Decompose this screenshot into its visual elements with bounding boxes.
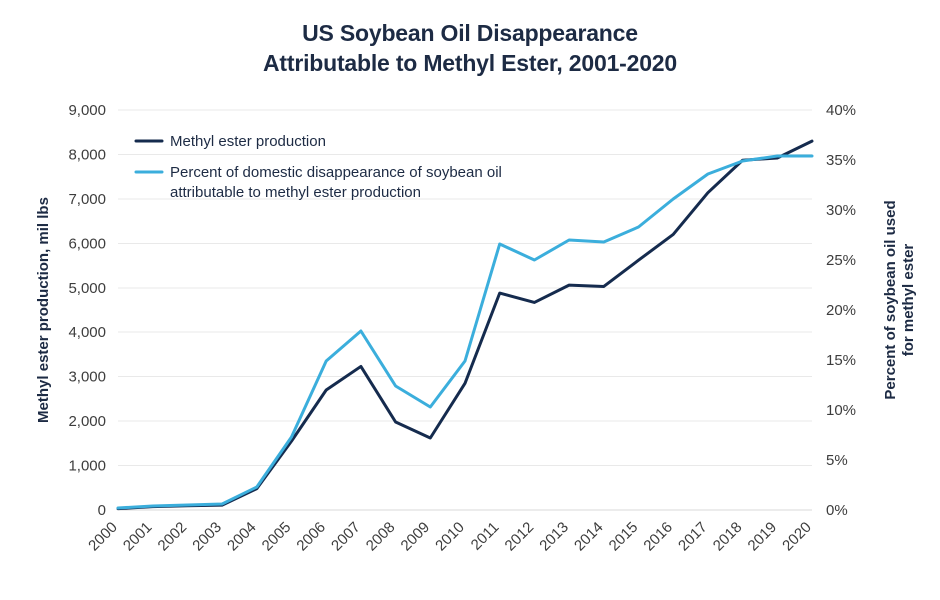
y-axis-right-title-line-1: Percent of soybean oil used — [882, 200, 899, 399]
x-axis-tick-label: 2017 — [675, 519, 711, 555]
y-axis-right-tick-label: 30% — [826, 202, 856, 219]
chart-title-line-2: Attributable to Methyl Ester, 2001-2020 — [0, 48, 940, 78]
legend-label-percent-disappearance-line-1: Percent of domestic disappearance of soy… — [170, 164, 502, 181]
x-axis-tick-label: 2018 — [710, 519, 746, 555]
y-axis-left-tick-label: 3,000 — [68, 369, 106, 386]
chart-title: US Soybean Oil Disappearance Attributabl… — [0, 18, 940, 78]
chart-title-line-1: US Soybean Oil Disappearance — [0, 18, 940, 48]
y-axis-right-tick-label: 5% — [826, 452, 848, 469]
chart-plot-area: 01,0002,0003,0004,0005,0006,0007,0008,00… — [0, 0, 940, 600]
x-axis-tick-label: 2016 — [640, 519, 676, 555]
x-axis-tick-label: 2004 — [224, 519, 260, 555]
y-axis-right-tick-label: 40% — [826, 102, 856, 119]
y-axis-left-tick-label: 1,000 — [68, 458, 106, 475]
y-axis-right-tick-label: 35% — [826, 152, 856, 169]
x-axis-tick-label: 2013 — [536, 519, 572, 555]
y-axis-right-tick-label: 25% — [826, 252, 856, 269]
chart-legend: Methyl ester production Percent of domes… — [136, 133, 502, 201]
y-axis-right-tick-label: 20% — [826, 302, 856, 319]
x-axis-tick-label: 2015 — [606, 519, 642, 555]
y-axis-left-tick-label: 4,000 — [68, 324, 106, 341]
x-axis-ticks: 2000200120022003200420052006200720082009… — [85, 519, 815, 555]
x-axis-tick-label: 2020 — [779, 519, 815, 555]
x-axis-tick-label: 2003 — [189, 519, 225, 555]
chart-container: US Soybean Oil Disappearance Attributabl… — [0, 0, 940, 600]
x-axis-tick-label: 2007 — [328, 519, 364, 555]
y-axis-right-title-line-2: for methyl ester — [900, 244, 917, 357]
x-axis-tick-label: 2008 — [363, 519, 399, 555]
x-axis-tick-label: 2011 — [468, 519, 503, 554]
y-axis-right-tick-label: 10% — [826, 402, 856, 419]
x-axis-tick-label: 2010 — [432, 519, 468, 555]
x-axis-tick-label: 2005 — [259, 519, 295, 555]
x-axis-tick-label: 2000 — [85, 519, 121, 555]
x-axis-tick-label: 2019 — [745, 519, 781, 555]
y-axis-left-ticks: 01,0002,0003,0004,0005,0006,0007,0008,00… — [68, 102, 106, 519]
y-axis-left-tick-label: 6,000 — [68, 235, 106, 252]
y-axis-right-tick-label: 0% — [826, 502, 848, 519]
legend-label-methyl-ester-production: Methyl ester production — [170, 133, 326, 150]
y-axis-left-tick-label: 0 — [98, 502, 106, 519]
y-axis-left-title: Methyl ester production, mil lbs — [35, 197, 52, 423]
legend-label-percent-disappearance-line-2: attributable to methyl ester production — [170, 184, 421, 201]
x-axis-tick-label: 2014 — [571, 519, 607, 555]
y-axis-right-tick-label: 15% — [826, 352, 856, 369]
y-axis-left-tick-label: 7,000 — [68, 191, 106, 208]
x-axis-tick-label: 2002 — [155, 519, 191, 555]
x-axis-tick-label: 2012 — [502, 519, 538, 555]
x-axis-tick-label: 2009 — [398, 519, 434, 555]
y-axis-left-tick-label: 5,000 — [68, 280, 106, 297]
x-axis-tick-label: 2001 — [120, 519, 156, 555]
y-axis-left-tick-label: 9,000 — [68, 102, 106, 119]
y-axis-left-tick-label: 8,000 — [68, 146, 106, 163]
y-axis-right-ticks: 0%5%10%15%20%25%30%35%40% — [826, 102, 856, 519]
y-axis-left-tick-label: 2,000 — [68, 413, 106, 430]
x-axis-tick-label: 2006 — [293, 519, 329, 555]
